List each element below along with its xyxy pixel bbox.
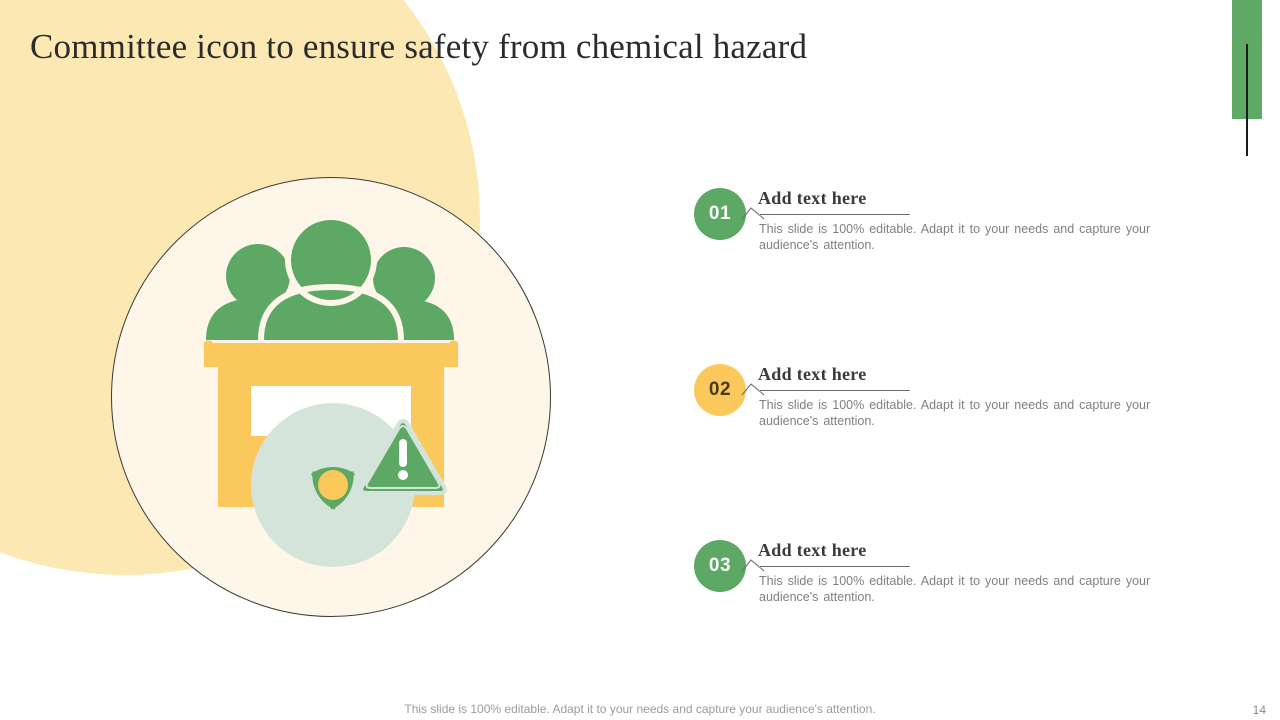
step-badge: 02: [694, 364, 746, 416]
item-heading: Add text here: [758, 364, 867, 385]
list-item[interactable]: 01 Add text here This slide is 100% edit…: [694, 188, 1194, 364]
step-badge: 03: [694, 540, 746, 592]
page-number: 14: [1253, 703, 1266, 717]
item-body-text: This slide is 100% editable. Adapt it to…: [759, 397, 1159, 429]
footer-note: This slide is 100% editable. Adapt it to…: [0, 702, 1280, 716]
step-badge: 01: [694, 188, 746, 240]
corner-accent-line: [1246, 44, 1248, 156]
item-body-text: This slide is 100% editable. Adapt it to…: [759, 221, 1159, 253]
item-heading: Add text here: [758, 540, 867, 561]
list-item[interactable]: 03 Add text here This slide is 100% edit…: [694, 540, 1194, 716]
list-item[interactable]: 02 Add text here This slide is 100% edit…: [694, 364, 1194, 540]
item-heading-rule: [760, 214, 910, 215]
feature-list: 01 Add text here This slide is 100% edit…: [694, 188, 1194, 716]
item-heading-rule: [760, 566, 910, 567]
page-title: Committee icon to ensure safety from che…: [30, 27, 807, 67]
item-heading-rule: [760, 390, 910, 391]
item-body-text: This slide is 100% editable. Adapt it to…: [759, 573, 1159, 605]
item-heading: Add text here: [758, 188, 867, 209]
three-people-icon: [206, 217, 454, 340]
committee-chemical-hazard-icon: [111, 177, 551, 617]
slide-canvas: Committee icon to ensure safety from che…: [0, 0, 1280, 720]
